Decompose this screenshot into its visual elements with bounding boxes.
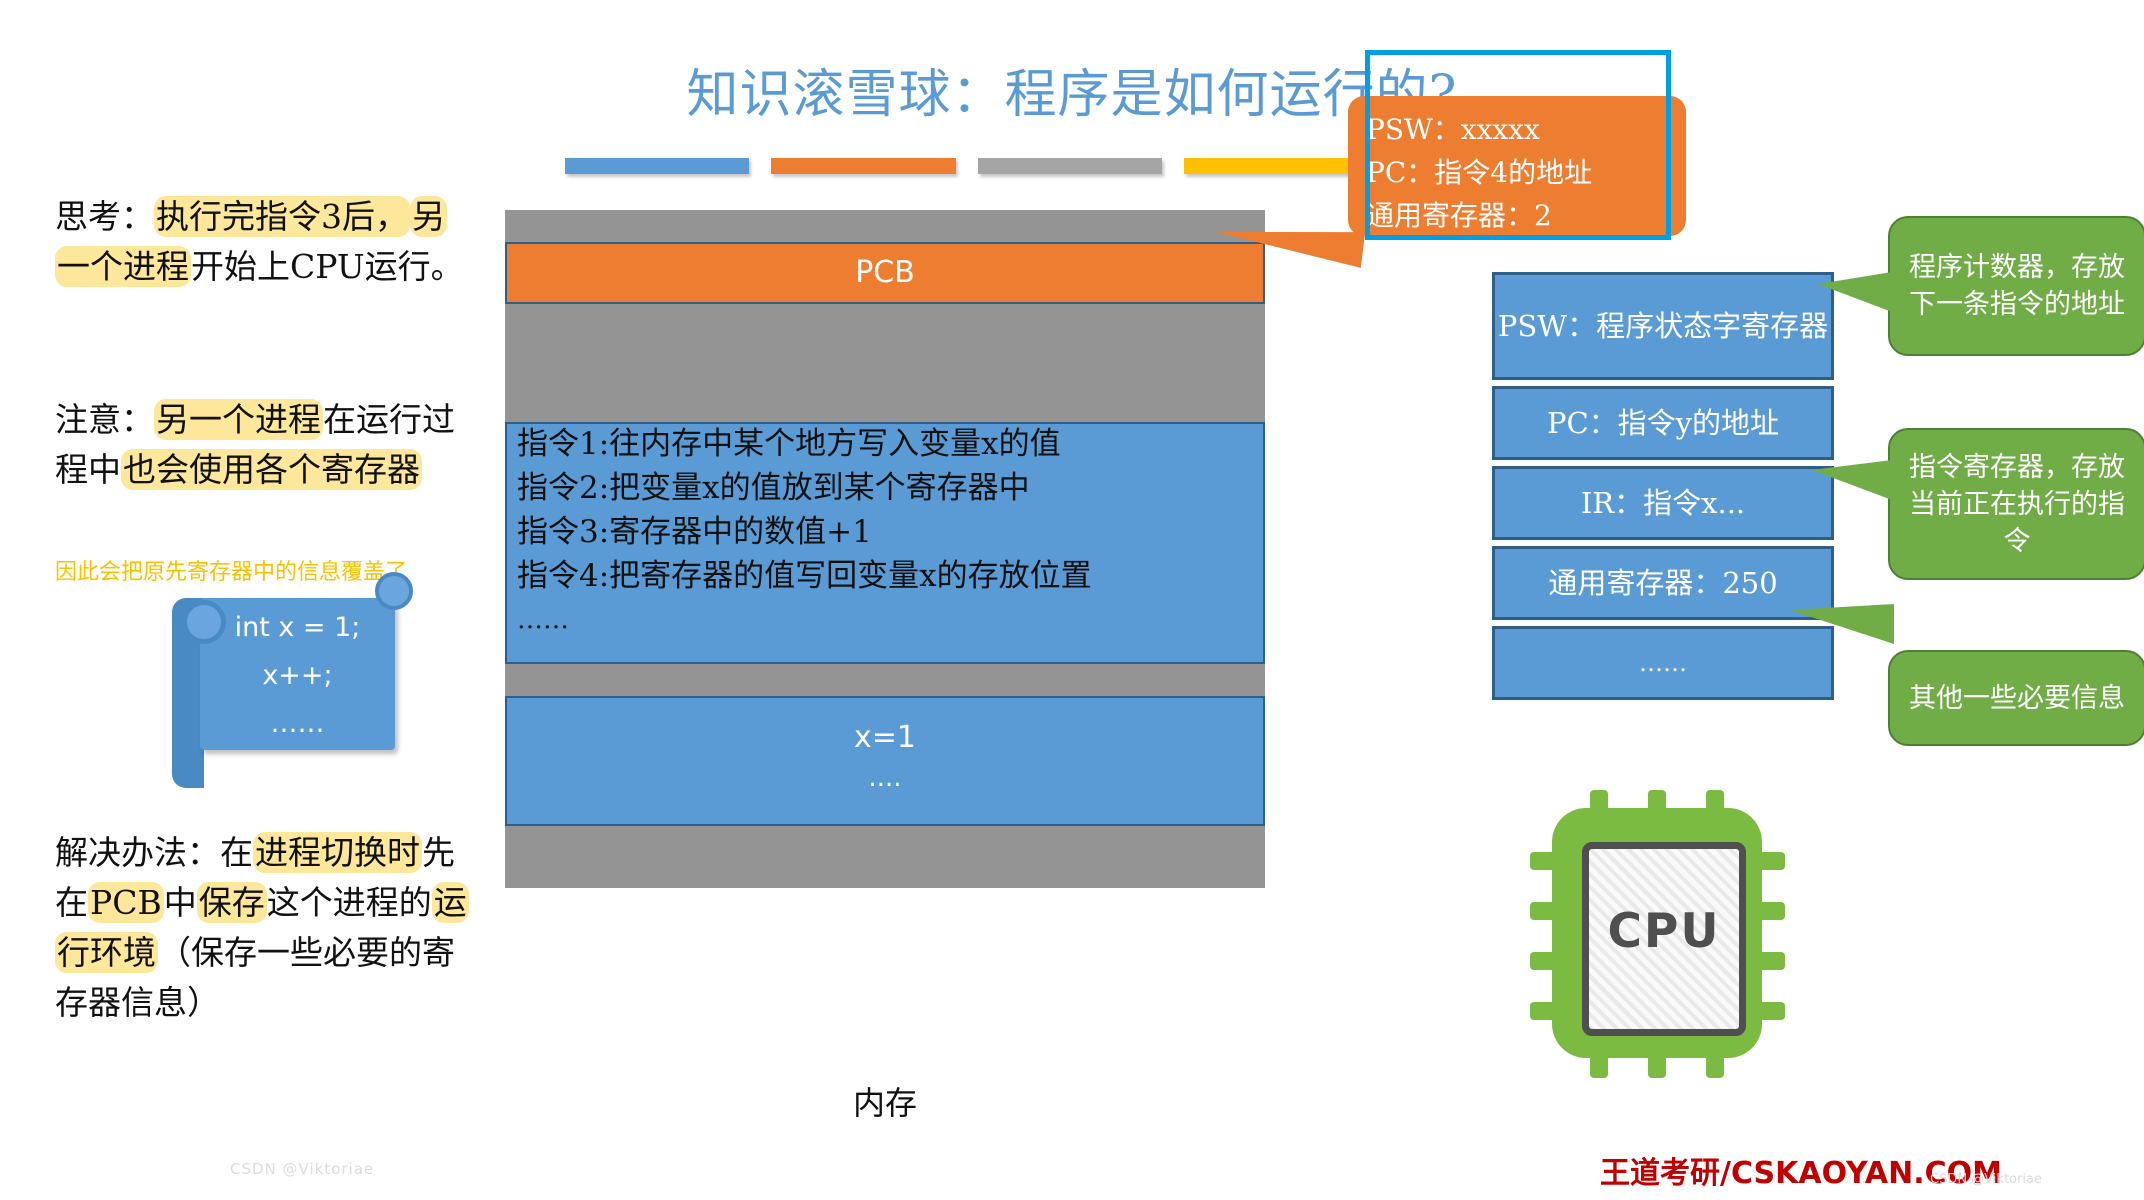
instruction-line-0: 指令1:往内存中某个地方写入变量x的值 [517, 422, 1265, 466]
green-callout-pc-text: 程序计数器，存放下一条指令的地址 [1902, 249, 2132, 323]
green-callout-ir-explain: 指令寄存器，存放当前正在执行的指令 [1888, 428, 2144, 580]
green-callout-others-text: 其他一些必要信息 [1909, 680, 2125, 717]
note-sol-seg-6: 这个进程的 [267, 883, 432, 922]
page-title: 知识滚雪球：程序是如何运行的? [0, 52, 2144, 127]
memory-row-top-gray [505, 210, 1265, 242]
cpu-label: CPU [1589, 849, 1739, 1015]
register-pc-label: PC：指令y的地址 [1547, 404, 1779, 442]
code-scroll-shape: int x = 1; x++; …… [160, 590, 395, 770]
note-think-seg-0: 执行完指令3后， [154, 196, 410, 237]
note-solution: 解决办法：在进程切换时先在PCB中保存这个进程的运行环境（保存一些必要的寄存器信… [55, 828, 470, 1028]
note-sol-seg-0: 在 [220, 833, 253, 872]
data-line-0: x=1 [507, 720, 1263, 755]
note-sol-label: 解决办法： [55, 833, 220, 872]
green-callout-others-pointer-icon [1790, 604, 1894, 644]
green-callout-pc-pointer-icon [1818, 272, 1892, 312]
code-line-1: x++; [200, 652, 395, 700]
pcb-label: PCB [507, 244, 1263, 302]
note-think-label: 思考： [55, 197, 154, 236]
register-psw-label: PSW：程序状态字寄存器 [1498, 307, 1828, 345]
watermark-left: CSDN @Viktoriae [230, 1160, 374, 1178]
green-callout-others-explain: 其他一些必要信息 [1888, 650, 2144, 746]
note-sol-seg-1: 进程切换时 [253, 832, 422, 873]
code-lines: int x = 1; x++; …… [200, 604, 395, 748]
memory-row-gray-gap-2 [505, 664, 1265, 696]
note-think-seg-2: 开始上CPU运行。 [191, 247, 464, 286]
code-line-0: int x = 1; [200, 604, 395, 652]
note-sol-seg-5: 保存 [197, 882, 267, 923]
memory-row-pcb: PCB [505, 242, 1265, 304]
register-gpr: 通用寄存器：250 [1492, 546, 1834, 620]
register-pc: PC：指令y的地址 [1492, 386, 1834, 460]
instruction-list: 指令1:往内存中某个地方写入变量x的值 指令2:把变量x的值放到某个寄存器中 指… [517, 422, 1265, 642]
memory-caption: 内存 [505, 1078, 1265, 1124]
memory-row-gray-gap-1 [505, 304, 1265, 422]
register-ir-label: IR：指令x... [1581, 484, 1745, 522]
note-think: 思考：执行完指令3后，另一个进程开始上CPU运行。 [55, 192, 465, 292]
memory-row-data: x=1 .... [505, 696, 1265, 826]
register-others: …… [1492, 626, 1834, 700]
register-others-label: …… [1639, 644, 1687, 682]
highlight-frame [1365, 50, 1671, 240]
cpu-die: CPU [1582, 842, 1746, 1036]
green-callout-pc-explain: 程序计数器，存放下一条指令的地址 [1888, 216, 2144, 356]
instruction-line-1: 指令2:把变量x的值放到某个寄存器中 [517, 466, 1265, 510]
register-psw: PSW：程序状态字寄存器 [1492, 272, 1834, 380]
title-bar-3 [978, 158, 1162, 174]
watermark-right: CSDN @Viktoriae [1930, 1172, 2042, 1187]
register-ir: IR：指令x... [1492, 466, 1834, 540]
title-bar-2 [771, 158, 955, 174]
footer-brand-cn: 王道考研/ [1600, 1156, 1731, 1191]
note-sol-seg-3: PCB [88, 882, 164, 923]
memory-row-bottom-gray [505, 826, 1265, 888]
memory-diagram: PCB x=1 .... 指令1:往内存中某个地方写入变量x的值 指令2:把变量… [505, 210, 1265, 1050]
instruction-line-2: 指令3:寄存器中的数值+1 [517, 510, 1265, 554]
code-line-2: …… [200, 700, 395, 748]
instruction-line-3: 指令4:把寄存器的值写回变量x的存放位置 [517, 554, 1265, 598]
note-overwrite-warning: 因此会把原先寄存器中的信息覆盖了 [55, 558, 575, 588]
green-callout-ir-pointer-icon [1812, 460, 1892, 500]
note-warn-seg-2: 也会使用各个寄存器 [121, 449, 422, 490]
cpu-chip-icon: CPU [1530, 790, 1785, 1080]
note-sol-seg-4: 中 [164, 883, 197, 922]
note-warn-seg-0: 另一个进程 [154, 399, 323, 440]
register-gpr-label: 通用寄存器：250 [1548, 564, 1777, 602]
note-warning: 注意：另一个进程在运行过程中也会使用各个寄存器 [55, 395, 470, 495]
title-bar-1 [565, 158, 749, 174]
note-warn-label: 注意： [55, 400, 154, 439]
green-callout-ir-text: 指令寄存器，存放当前正在执行的指令 [1902, 449, 2132, 560]
instruction-line-4: …… [517, 598, 1265, 642]
data-line-1: .... [507, 763, 1263, 793]
title-bar-4 [1184, 158, 1368, 174]
